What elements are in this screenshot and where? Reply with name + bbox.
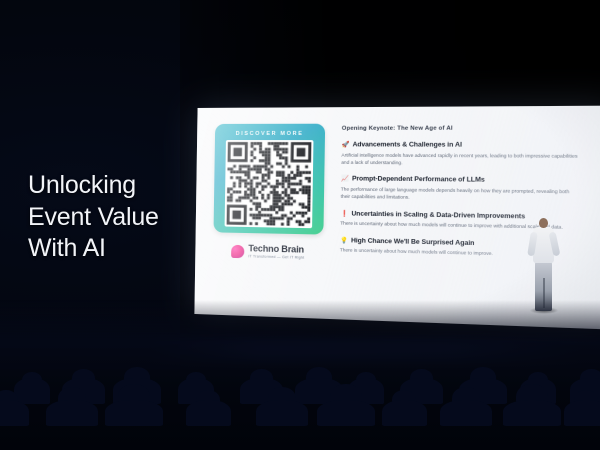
- rocket-icon: 🚀: [341, 142, 349, 148]
- audience-head: [118, 384, 150, 410]
- list-item-heading: 🚀 Advancements & Challenges in AI: [341, 141, 599, 149]
- audience-head: [470, 367, 496, 388]
- techno-brain-mark-icon: [231, 244, 244, 257]
- list-item-body: Artificial intelligence models have adva…: [341, 151, 599, 168]
- audience-head: [0, 390, 18, 410]
- audience-head: [250, 369, 273, 388]
- brand-name: Techno Brain: [248, 244, 304, 254]
- audience-head: [22, 372, 42, 388]
- list-item-heading: 📈 Prompt-Dependent Performance of LLMs: [341, 176, 599, 186]
- audience-head: [452, 387, 480, 410]
- audience-head: [580, 369, 600, 388]
- slide-text-column: Opening Keynote: The New Age of AI 🚀 Adv…: [339, 123, 600, 314]
- list-item: 💡 High Chance We'll Be Surprised Again T…: [340, 237, 598, 261]
- list-item-body: There is uncertainty about how much mode…: [340, 220, 598, 232]
- qr-label: Discover more: [236, 131, 304, 137]
- qr-code[interactable]: [225, 140, 314, 228]
- list-item-title: Prompt-Dependent Performance of LLMs: [352, 176, 485, 185]
- audience-head: [306, 367, 332, 388]
- chart-icon: 📈: [341, 177, 349, 183]
- qr-column: Discover more Techno Brain IT Transforme…: [210, 124, 327, 305]
- warning-icon: ❗: [340, 211, 348, 217]
- headline-line-1: Unlocking: [28, 170, 208, 202]
- audience-head: [72, 369, 95, 388]
- qr-code-canvas: [227, 142, 312, 226]
- audience-head: [196, 390, 220, 410]
- sparkle-icon: 💡: [340, 238, 348, 244]
- headline-line-3: With AI: [28, 233, 208, 265]
- audience-head: [516, 384, 548, 410]
- audience-head: [392, 390, 416, 410]
- page-title: Unlocking Event Value With AI: [28, 170, 208, 265]
- audience-head: [410, 369, 433, 388]
- brand-tagline: IT Transformed — Get IT Right: [248, 255, 304, 260]
- brand-logo-text: Techno Brain IT Transformed — Get IT Rig…: [248, 244, 304, 260]
- list-item-body: The performance of large language models…: [341, 185, 599, 204]
- presenter-head: [539, 218, 548, 228]
- audience-silhouettes: [0, 300, 600, 450]
- qr-card: Discover more: [214, 124, 326, 235]
- conference-stage-scene: Unlocking Event Value With AI Discover m…: [0, 0, 600, 450]
- list-item-title: High Chance We'll Be Surprised Again: [351, 237, 475, 247]
- audience-head: [356, 372, 376, 388]
- list-item: 🚀 Advancements & Challenges in AI Artifi…: [341, 141, 600, 168]
- audience-head: [574, 390, 598, 410]
- list-item-title: Advancements & Challenges in AI: [353, 141, 462, 149]
- audience-head: [58, 387, 86, 410]
- list-item: 📈 Prompt-Dependent Performance of LLMs T…: [341, 176, 599, 205]
- list-item: ❗ Uncertainties in Scaling & Data-Driven…: [340, 210, 598, 232]
- headline-line-2: Event Value: [28, 202, 208, 234]
- audience-head: [330, 384, 362, 410]
- audience-head: [186, 372, 206, 388]
- brand-logo: Techno Brain IT Transformed — Get IT Rig…: [231, 244, 304, 260]
- audience-head: [268, 387, 296, 410]
- list-item-title: Uncertainties in Scaling & Data-Driven I…: [351, 210, 525, 220]
- slide-kicker: Opening Keynote: The New Age of AI: [342, 125, 600, 132]
